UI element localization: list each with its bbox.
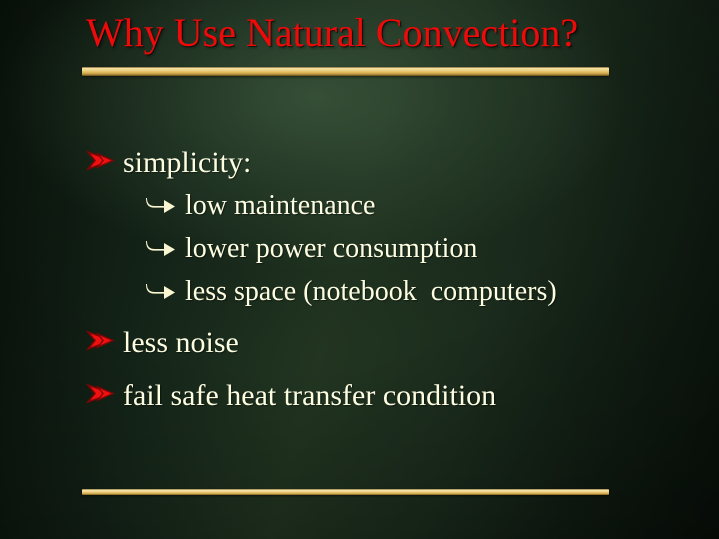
presentation-slide: Why Use Natural Convection? simplicity:l…	[0, 0, 719, 539]
bullet-text: less noise	[123, 328, 239, 358]
red-double-chevron-bullet-icon	[86, 383, 116, 405]
bullet-item-level2: lower power consumption	[146, 235, 477, 263]
cream-hooked-arrow-bullet-icon	[146, 194, 176, 214]
bullet-text: lower power consumption	[185, 235, 477, 263]
bullet-text: low maintenance	[185, 192, 375, 220]
slide-body-bullet-list: simplicity:low maintenancelower power co…	[0, 0, 719, 539]
cream-hooked-arrow-bullet-icon	[146, 280, 176, 300]
cream-hooked-arrow-bullet-icon	[146, 237, 176, 257]
red-double-chevron-bullet-icon	[86, 150, 116, 172]
bullet-item-level1: less noise	[86, 328, 239, 358]
bullet-item-level1: fail safe heat transfer condition	[86, 381, 496, 411]
footer-divider-rule	[82, 489, 609, 495]
bullet-item-level2: low maintenance	[146, 192, 375, 220]
bullet-item-level2: less space (notebook computers)	[146, 278, 557, 306]
bullet-text: less space (notebook computers)	[185, 278, 557, 306]
red-double-chevron-bullet-icon	[86, 330, 116, 352]
bullet-item-level1: simplicity:	[86, 148, 251, 178]
bullet-text: fail safe heat transfer condition	[123, 381, 496, 411]
bullet-text: simplicity:	[123, 148, 251, 178]
